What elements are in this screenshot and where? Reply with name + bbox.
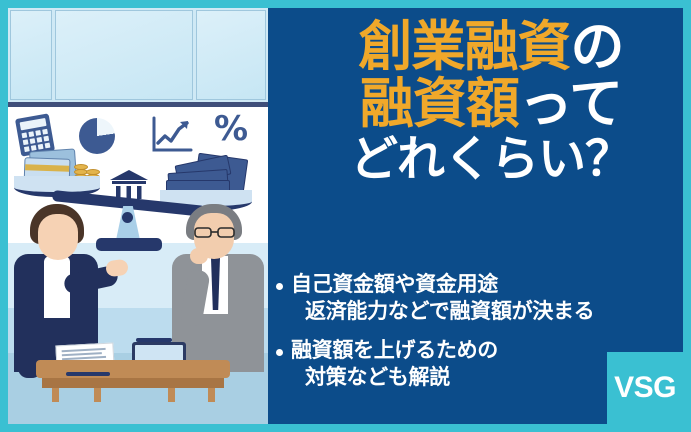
meeting-table (36, 360, 230, 378)
headline-line-2: 融資額って (292, 77, 690, 132)
headline-line-2-gold: 融資額 (360, 74, 519, 134)
headline-line-3: どれくらい？ (292, 136, 690, 185)
window-pane (196, 10, 266, 100)
bullet-2-line-2: 対策なども解説 (291, 365, 498, 392)
headline-line-2-white: って (519, 74, 622, 134)
line-chart-up-icon (151, 116, 193, 156)
balance-scale-pivot (122, 212, 133, 223)
eyeglasses-icon (194, 226, 236, 238)
table-leg (52, 388, 59, 402)
vsg-logo-text: VSG (614, 371, 676, 405)
headline-group: 創業融資の 融資額って どれくらい？ (292, 20, 690, 185)
table-leg (94, 388, 101, 402)
percent-icon: % (214, 112, 248, 146)
pen-icon (136, 338, 172, 342)
office-window-wall (8, 8, 268, 104)
headline-line-1-gold: 創業融資 (359, 17, 571, 77)
balance-scale-base (96, 238, 162, 251)
bullet-dot-icon (276, 283, 283, 290)
bullet-dot-icon (276, 349, 283, 356)
headline-line-1-white: の (571, 17, 624, 77)
pie-chart-icon (79, 118, 115, 154)
table-leg (208, 388, 215, 402)
window-pane (55, 10, 193, 100)
illustration-panel: % (8, 8, 268, 424)
promo-banner: % (0, 0, 691, 432)
headline-line-1: 創業融資の (292, 20, 690, 75)
coin-stack-icon (86, 169, 100, 175)
bullet-item-text: 融資額を上げるための 対策なども解説 (291, 338, 498, 392)
bullet-item: 自己資金額や資金用途 返済能力などで融資額が決まる (276, 272, 681, 326)
bullet-1-line-1: 自己資金額や資金用途 (291, 272, 594, 299)
window-pane (10, 10, 52, 100)
pen-icon (66, 372, 110, 376)
bullet-item-text: 自己資金額や資金用途 返済能力などで融資額が決まる (291, 272, 594, 326)
meeting-table-edge (42, 378, 224, 388)
bullet-2-line-1: 融資額を上げるための (291, 338, 498, 365)
table-leg (168, 388, 175, 402)
young-businessman-head (38, 214, 78, 260)
vsg-logo: VSG (607, 352, 683, 424)
bullet-1-line-2: 返済能力などで融資額が決まる (291, 299, 594, 326)
older-businessman-hand (190, 248, 208, 264)
coin-stack-icon (74, 164, 88, 170)
